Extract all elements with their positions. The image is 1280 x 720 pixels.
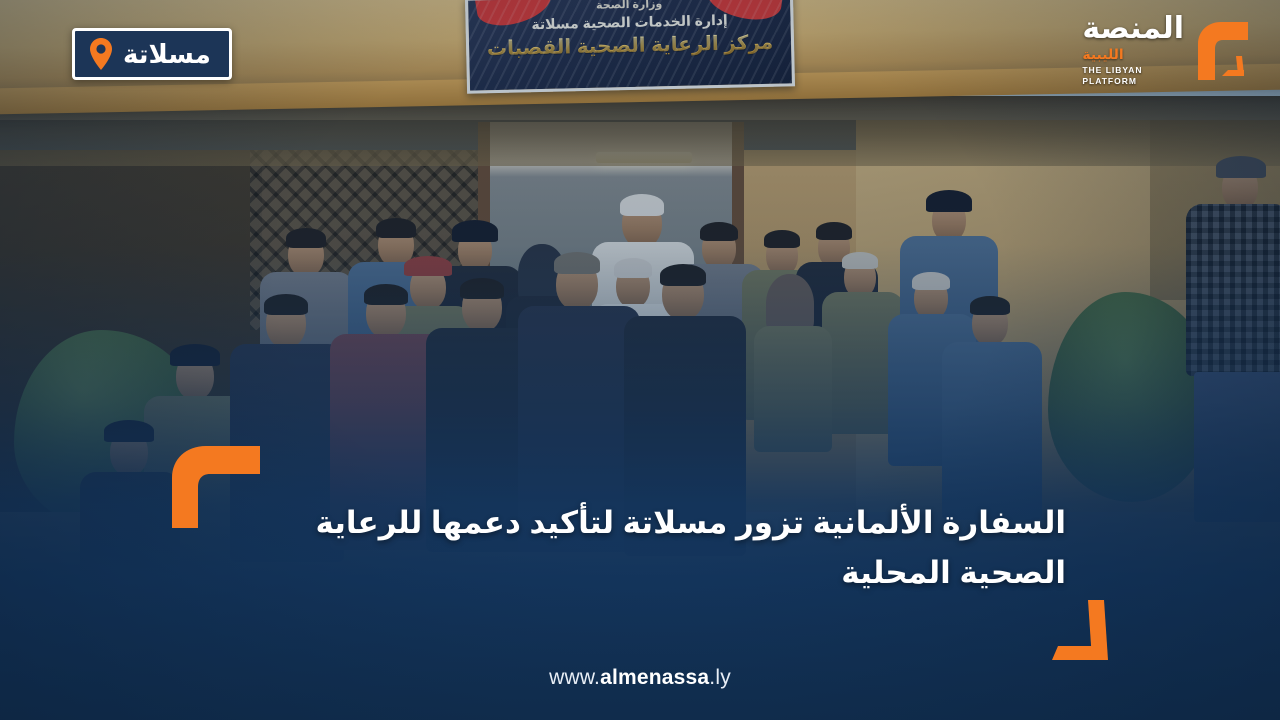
news-card: وزارة الصحة إدارة الخدمات الصحية مسلاتة … <box>0 0 1280 720</box>
brand-english-line2: PLATFORM <box>1082 76 1142 87</box>
url-prefix: www. <box>549 666 600 689</box>
brand-subtitle-arabic: الليبية <box>1082 47 1123 61</box>
bracket-logo-mark-icon <box>1192 18 1254 82</box>
footer-website-url: www.almenassa.ly <box>0 666 1280 690</box>
brand-text-block: المنصة الليبية THE LIBYAN PLATFORM <box>1082 14 1184 86</box>
brand-name-arabic: المنصة <box>1082 14 1184 44</box>
map-pin-icon <box>89 38 113 70</box>
location-badge: مسلاتة <box>72 28 232 80</box>
orange-angle-accent-icon <box>1052 598 1148 660</box>
brand-logo: المنصة الليبية THE LIBYAN PLATFORM <box>1082 14 1254 86</box>
headline-text: السفارة الألمانية تزور مسلاتة لتأكيد دعم… <box>214 498 1066 598</box>
brand-english-line1: THE LIBYAN <box>1082 65 1142 76</box>
location-badge-label: مسلاتة <box>123 41 211 67</box>
url-suffix: .ly <box>709 666 731 689</box>
brand-name-english: THE LIBYAN PLATFORM <box>1082 65 1142 86</box>
url-brand: almenassa <box>600 666 709 689</box>
